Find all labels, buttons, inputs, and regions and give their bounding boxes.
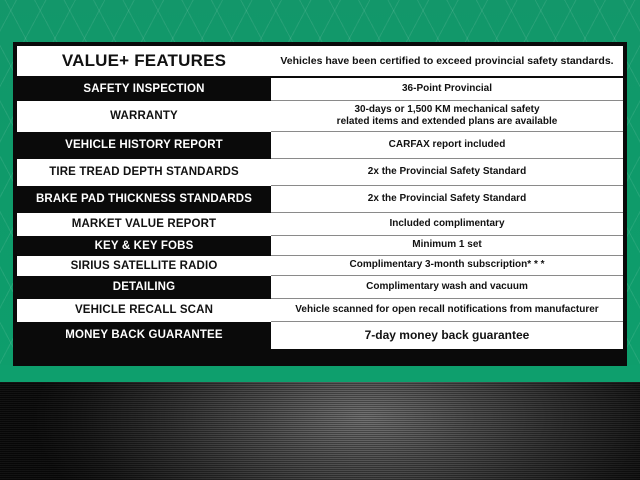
table-row: MARKET VALUE REPORT Included complimenta… — [17, 213, 623, 236]
table-row: WARRANTY 30-days or 1,500 KM mechanical … — [17, 101, 623, 132]
page-title: VALUE+ FEATURES — [62, 51, 226, 71]
row-label-cell: BRAKE PAD THICKNESS STANDARDS — [17, 186, 271, 213]
row-value-cell: 2x the Provincial Safety Standard — [271, 159, 623, 186]
table-row: TIRE TREAD DEPTH STANDARDS 2x the Provin… — [17, 159, 623, 186]
table-header-subtitle: Vehicles have been certified to exceed p… — [271, 46, 623, 76]
row-label-cell: SIRIUS SATELLITE RADIO — [17, 256, 271, 276]
row-value-cell: Minimum 1 set — [271, 236, 623, 256]
row-label: TIRE TREAD DEPTH STANDARDS — [49, 166, 239, 179]
row-value: CARFAX report included — [389, 139, 506, 152]
row-value: 36-Point Provincial — [402, 83, 492, 96]
row-value: 2x the Provincial Safety Standard — [368, 166, 526, 179]
row-value-cell: 36-Point Provincial — [271, 78, 623, 101]
row-label-cell: VEHICLE HISTORY REPORT — [17, 132, 271, 159]
row-value-cell: Included complimentary — [271, 213, 623, 236]
row-value: Included complimentary — [389, 218, 504, 231]
table-row: MONEY BACK GUARANTEE 7-day money back gu… — [17, 322, 623, 349]
row-value-cell: Complimentary wash and vacuum — [271, 276, 623, 299]
row-value: 7-day money back guarantee — [365, 328, 530, 343]
promo-graphic: VALUE+ FEATURES Vehicles have been certi… — [0, 0, 640, 480]
row-value: 30-days or 1,500 KM mechanical safety re… — [337, 104, 558, 129]
row-label: KEY & KEY FOBS — [95, 240, 194, 253]
table-header-title: VALUE+ FEATURES — [17, 46, 271, 76]
row-value: Complimentary 3-month subscription* * * — [349, 259, 544, 272]
row-label-cell: MARKET VALUE REPORT — [17, 213, 271, 236]
table-row: BRAKE PAD THICKNESS STANDARDS 2x the Pro… — [17, 186, 623, 213]
row-label: SAFETY INSPECTION — [83, 83, 204, 96]
row-label: VEHICLE HISTORY REPORT — [65, 139, 223, 152]
row-label-cell: DETAILING — [17, 276, 271, 299]
value-plus-features-table: VALUE+ FEATURES Vehicles have been certi… — [13, 42, 627, 366]
row-value-cell: 2x the Provincial Safety Standard — [271, 186, 623, 213]
row-value: Vehicle scanned for open recall notifica… — [295, 304, 598, 317]
row-label: BRAKE PAD THICKNESS STANDARDS — [36, 193, 252, 206]
header-subtitle-text: Vehicles have been certified to exceed p… — [280, 55, 613, 67]
row-label-cell: VEHICLE RECALL SCAN — [17, 299, 271, 322]
row-value: 2x the Provincial Safety Standard — [368, 193, 526, 206]
table-row: SAFETY INSPECTION 36-Point Provincial — [17, 78, 623, 101]
row-label-cell: SAFETY INSPECTION — [17, 78, 271, 101]
row-label: MARKET VALUE REPORT — [72, 218, 216, 231]
row-value-cell: 30-days or 1,500 KM mechanical safety re… — [271, 101, 623, 132]
row-label-cell: TIRE TREAD DEPTH STANDARDS — [17, 159, 271, 186]
row-label-cell: MONEY BACK GUARANTEE — [17, 322, 271, 349]
table-row: SIRIUS SATELLITE RADIO Complimentary 3-m… — [17, 256, 623, 276]
row-value-cell: CARFAX report included — [271, 132, 623, 159]
row-value-cell: 7-day money back guarantee — [271, 322, 623, 349]
row-label: WARRANTY — [110, 110, 178, 123]
row-label: SIRIUS SATELLITE RADIO — [71, 260, 218, 273]
row-label: VEHICLE RECALL SCAN — [75, 304, 213, 317]
table-row: DETAILING Complimentary wash and vacuum — [17, 276, 623, 299]
row-label: MONEY BACK GUARANTEE — [65, 329, 222, 342]
row-value: Minimum 1 set — [412, 239, 481, 252]
table-header-row: VALUE+ FEATURES Vehicles have been certi… — [17, 46, 623, 76]
table-row: VEHICLE HISTORY REPORT CARFAX report inc… — [17, 132, 623, 159]
row-label-cell: KEY & KEY FOBS — [17, 236, 271, 256]
row-label: DETAILING — [113, 281, 175, 294]
table-row: VEHICLE RECALL SCAN Vehicle scanned for … — [17, 299, 623, 322]
row-value-cell: Vehicle scanned for open recall notifica… — [271, 299, 623, 322]
row-value: Complimentary wash and vacuum — [366, 281, 528, 294]
table-row: KEY & KEY FOBS Minimum 1 set — [17, 236, 623, 256]
brand-banner: AUTO Q EXCLUSIVE PRE-OWNED PROGRAM ***If… — [0, 379, 640, 480]
table-body: VALUE+ FEATURES Vehicles have been certi… — [17, 46, 623, 362]
row-label-cell: WARRANTY — [17, 101, 271, 132]
row-value-cell: Complimentary 3-month subscription* * * — [271, 256, 623, 276]
